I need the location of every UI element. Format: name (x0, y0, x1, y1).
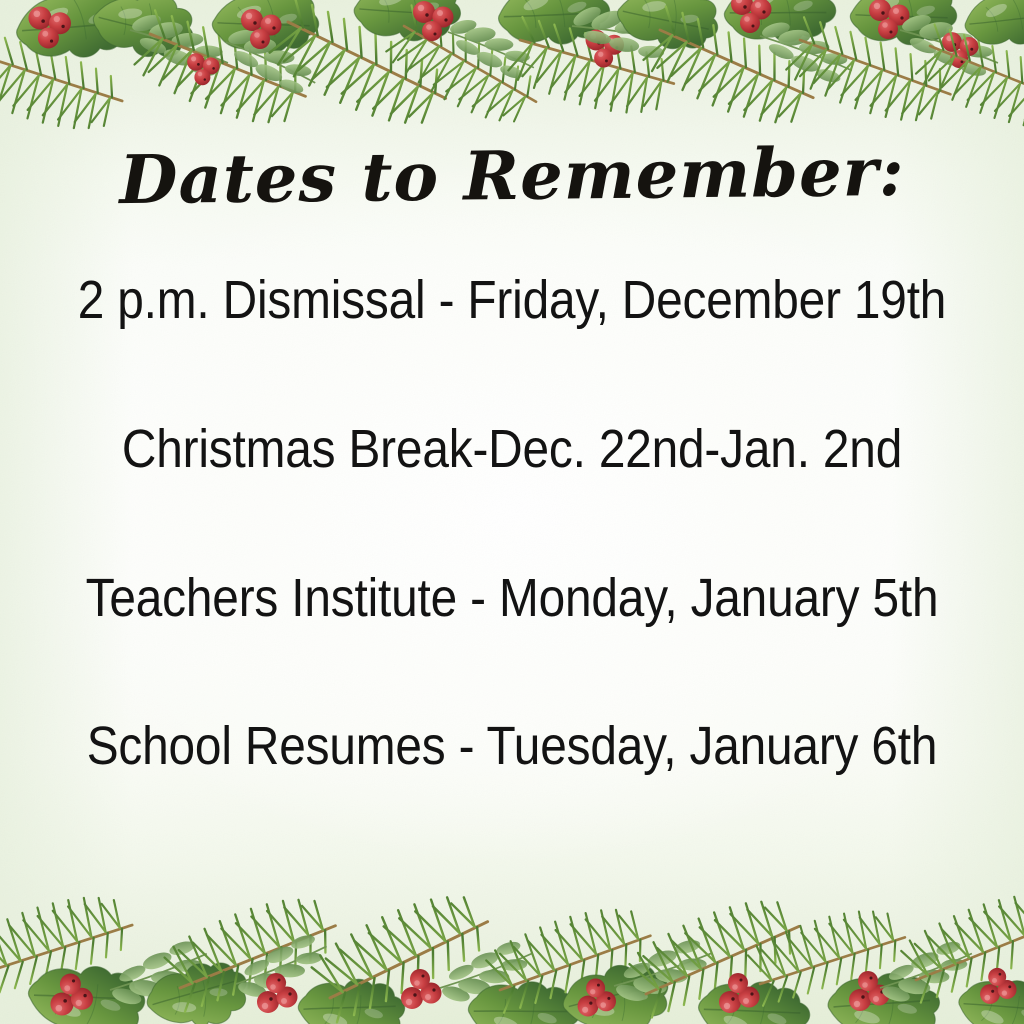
holiday-dates-poster: Dates to Remember: 2 p.m. Dismissal - Fr… (0, 0, 1024, 1024)
page-title: Dates to Remember: (0, 137, 1024, 215)
date-line-2: Christmas Break-Dec. 22nd-Jan. 2nd (59, 421, 965, 477)
poster-content: Dates to Remember: 2 p.m. Dismissal - Fr… (0, 0, 1024, 1024)
date-line-4: School Resumes - Tuesday, January 6th (59, 718, 965, 774)
date-line-3: Teachers Institute - Monday, January 5th (59, 570, 965, 626)
date-line-1: 2 p.m. Dismissal - Friday, December 19th (59, 272, 965, 328)
